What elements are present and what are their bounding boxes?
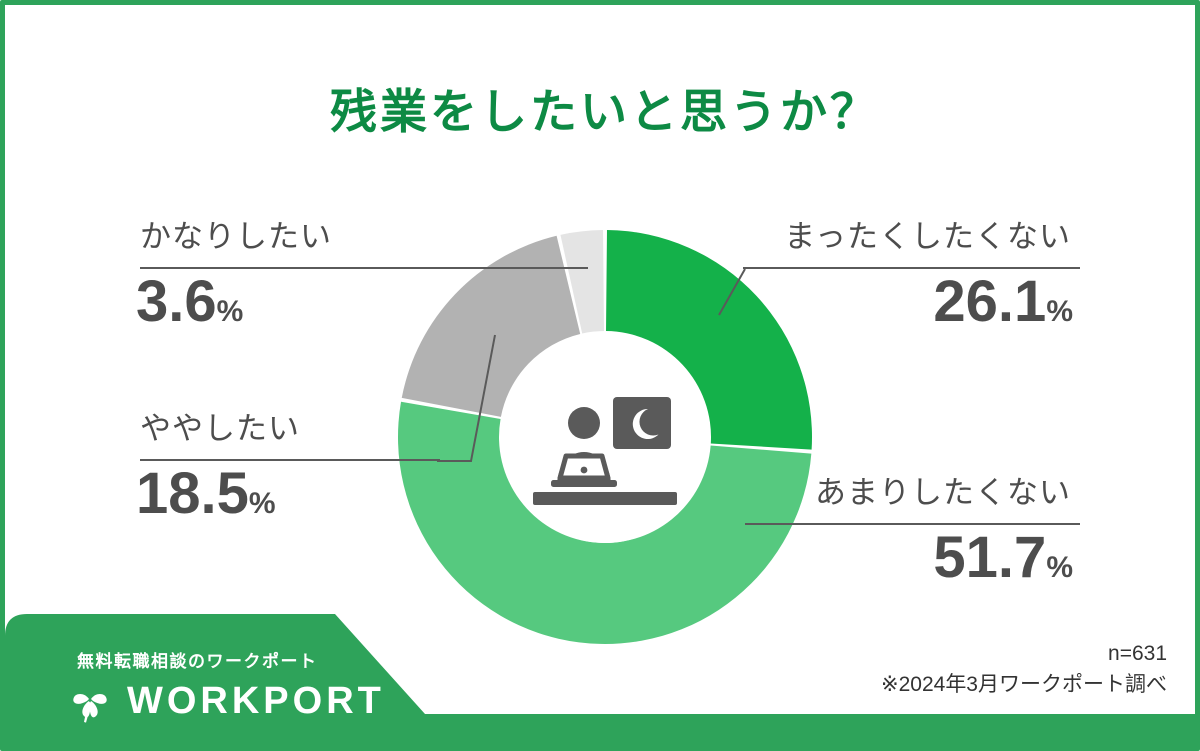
callout-yaya-label: ややしたい [140,403,300,448]
callout-kanari-value: 3.6% [136,273,243,331]
percent-sign: % [217,295,244,328]
callout-mattaku-label: まったくしたくない [784,211,1071,256]
sample-size: n=631 [881,639,1167,669]
card-body: 残業をしたいと思うか？ [5,5,1195,746]
callout-yaya: ややしたい [140,403,300,448]
donut-center-hub [507,347,703,543]
four-leaf-clover-icon [67,678,113,724]
leader-line-yaya-diagonal [435,333,505,463]
callout-amari: あまりしたくない [815,467,1071,512]
brand-block: 無料転職相談のワークポート WORKPORT [67,647,397,724]
person-at-laptop-night-icon [507,347,703,543]
survey-note: ※2024年3月ワークポート調べ [881,670,1167,700]
callout-kanari-value-wrap: 3.6% [136,273,243,331]
percent-sign: % [249,487,276,520]
percent-sign: % [1046,551,1073,584]
callout-yaya-value: 18.5% [136,465,276,523]
brand-row: WORKPORT [67,678,397,724]
callout-amari-value-wrap: 51.7% [933,529,1073,587]
brand-tagline: 無料転職相談のワークポート [77,647,397,672]
page-title: 残業をしたいと思うか？ [5,73,1200,142]
callout-amari-value: 51.7% [933,529,1073,587]
percent-sign: % [1046,295,1073,328]
callout-amari-label: あまりしたくない [815,467,1071,512]
callout-kanari-label: かなりしたい [140,211,332,256]
callout-mattaku: まったくしたくない [784,211,1071,256]
callout-yaya-value-wrap: 18.5% [136,465,276,523]
brand-name: WORKPORT [127,680,385,723]
callout-kanari: かなりしたい [140,211,332,256]
callout-mattaku-value-wrap: 26.1% [933,273,1073,331]
callout-mattaku-value: 26.1% [933,273,1073,331]
infographic-card: 残業をしたいと思うか？ [0,0,1200,751]
leader-line-mattaku-diagonal [705,263,765,318]
source-note: n=631 ※2024年3月ワークポート調べ [881,639,1167,700]
